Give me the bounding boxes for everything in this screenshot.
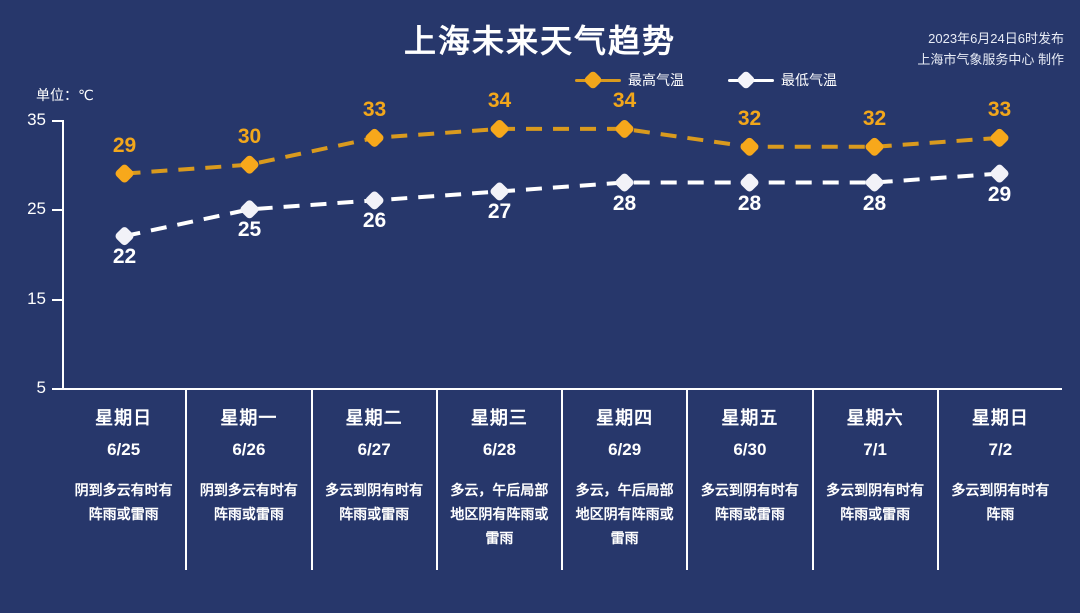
chart-legend: 最高气温 最低气温 xyxy=(575,70,837,90)
diamond-marker-icon xyxy=(575,71,621,89)
weekday-label: 星期一 xyxy=(187,404,310,430)
data-point-marker xyxy=(614,172,635,193)
high-temp-label: 33 xyxy=(363,98,386,122)
weather-description: 阴到多云有时有阵雨或雷雨 xyxy=(197,478,301,526)
weather-description: 多云到阴有时有阵雨或雷雨 xyxy=(322,478,426,526)
y-axis-tick-label: 35 xyxy=(27,110,46,130)
data-point-marker xyxy=(239,199,260,220)
series-lines xyxy=(62,110,1062,390)
weather-description: 多云到阴有时有阵雨 xyxy=(948,478,1052,526)
low-temp-label: 22 xyxy=(113,245,136,269)
weather-description: 多云到阴有时有阵雨或雷雨 xyxy=(823,478,927,526)
weekday-label: 星期五 xyxy=(688,404,811,430)
data-point-marker xyxy=(739,172,760,193)
data-point-marker xyxy=(864,172,885,193)
high-temp-label: 34 xyxy=(613,89,636,113)
weekday-label: 星期日 xyxy=(62,404,185,430)
y-axis-tick xyxy=(52,209,62,211)
date-label: 6/28 xyxy=(438,440,561,460)
forecast-day-column[interactable]: 星期一6/26阴到多云有时有阵雨或雷雨 xyxy=(185,390,310,570)
data-point-marker xyxy=(739,136,760,157)
date-label: 6/26 xyxy=(187,440,310,460)
high-temp-label: 34 xyxy=(488,89,511,113)
weekday-label: 星期六 xyxy=(814,404,937,430)
forecast-columns: 星期日6/25阴到多云有时有阵雨或雷雨星期一6/26阴到多云有时有阵雨或雷雨星期… xyxy=(62,390,1062,570)
date-label: 7/1 xyxy=(814,440,937,460)
data-point-marker xyxy=(114,163,135,184)
diamond-marker-icon xyxy=(728,71,774,89)
low-temp-label: 28 xyxy=(863,192,886,216)
data-point-marker xyxy=(114,226,135,247)
low-temp-label: 27 xyxy=(488,200,511,224)
weather-description: 阴到多云有时有阵雨或雷雨 xyxy=(72,478,176,526)
data-point-marker xyxy=(864,136,885,157)
low-temp-label: 25 xyxy=(238,218,261,242)
weekday-label: 星期二 xyxy=(313,404,436,430)
legend-label-high: 最高气温 xyxy=(628,70,684,90)
high-temp-label: 29 xyxy=(113,134,136,158)
high-temp-label: 30 xyxy=(238,125,261,149)
chart-plot-area: 5152535 29303334343232332225262728282829 xyxy=(62,110,1062,388)
low-temp-label: 28 xyxy=(738,192,761,216)
forecast-day-column[interactable]: 星期六7/1多云到阴有时有阵雨或雷雨 xyxy=(812,390,937,570)
publish-info: 2023年6月24日6时发布 上海市气象服务中心 制作 xyxy=(917,28,1064,70)
data-point-marker xyxy=(239,154,260,175)
legend-label-low: 最低气温 xyxy=(781,70,837,90)
y-axis-tick-label: 25 xyxy=(27,199,46,219)
data-point-marker xyxy=(989,127,1010,148)
date-label: 6/29 xyxy=(563,440,686,460)
forecast-day-column[interactable]: 星期二6/27多云到阴有时有阵雨或雷雨 xyxy=(311,390,436,570)
low-temp-label: 29 xyxy=(988,183,1011,207)
weather-description: 多云，午后局部地区阴有阵雨或雷雨 xyxy=(447,478,551,550)
date-label: 7/2 xyxy=(939,440,1062,460)
data-point-marker xyxy=(364,190,385,211)
chart-header: 上海未来天气趋势 2023年6月24日6时发布 上海市气象服务中心 制作 xyxy=(0,0,1080,90)
y-axis-tick-label: 15 xyxy=(27,289,46,309)
weather-description: 多云到阴有时有阵雨或雷雨 xyxy=(698,478,802,526)
high-temp-label: 32 xyxy=(738,107,761,131)
forecast-day-column[interactable]: 星期四6/29多云，午后局部地区阴有阵雨或雷雨 xyxy=(561,390,686,570)
low-temp-label: 26 xyxy=(363,209,386,233)
weather-description: 多云，午后局部地区阴有阵雨或雷雨 xyxy=(573,478,677,550)
date-label: 6/30 xyxy=(688,440,811,460)
legend-item-low: 最低气温 xyxy=(728,70,837,90)
weekday-label: 星期三 xyxy=(438,404,561,430)
forecast-day-column[interactable]: 星期三6/28多云，午后局部地区阴有阵雨或雷雨 xyxy=(436,390,561,570)
forecast-day-column[interactable]: 星期日7/2多云到阴有时有阵雨 xyxy=(937,390,1062,570)
axis-unit-label: 单位：℃ xyxy=(36,85,94,105)
weekday-label: 星期日 xyxy=(939,404,1062,430)
weekday-label: 星期四 xyxy=(563,404,686,430)
data-point-marker xyxy=(489,118,510,139)
y-axis-tick xyxy=(52,299,62,301)
forecast-day-column[interactable]: 星期日6/25阴到多云有时有阵雨或雷雨 xyxy=(62,390,185,570)
date-label: 6/25 xyxy=(62,440,185,460)
data-point-marker xyxy=(364,127,385,148)
date-label: 6/27 xyxy=(313,440,436,460)
y-axis-tick xyxy=(52,120,62,122)
data-point-marker xyxy=(489,181,510,202)
data-point-marker xyxy=(614,118,635,139)
y-axis-tick xyxy=(52,388,62,390)
high-temp-label: 32 xyxy=(863,107,886,131)
publisher-name: 上海市气象服务中心 制作 xyxy=(917,49,1064,70)
data-point-marker xyxy=(989,163,1010,184)
low-temp-label: 28 xyxy=(613,192,636,216)
high-temp-label: 33 xyxy=(988,98,1011,122)
forecast-day-column[interactable]: 星期五6/30多云到阴有时有阵雨或雷雨 xyxy=(686,390,811,570)
legend-item-high: 最高气温 xyxy=(575,70,684,90)
publish-time: 2023年6月24日6时发布 xyxy=(917,28,1064,49)
y-axis-tick-label: 5 xyxy=(37,378,46,398)
